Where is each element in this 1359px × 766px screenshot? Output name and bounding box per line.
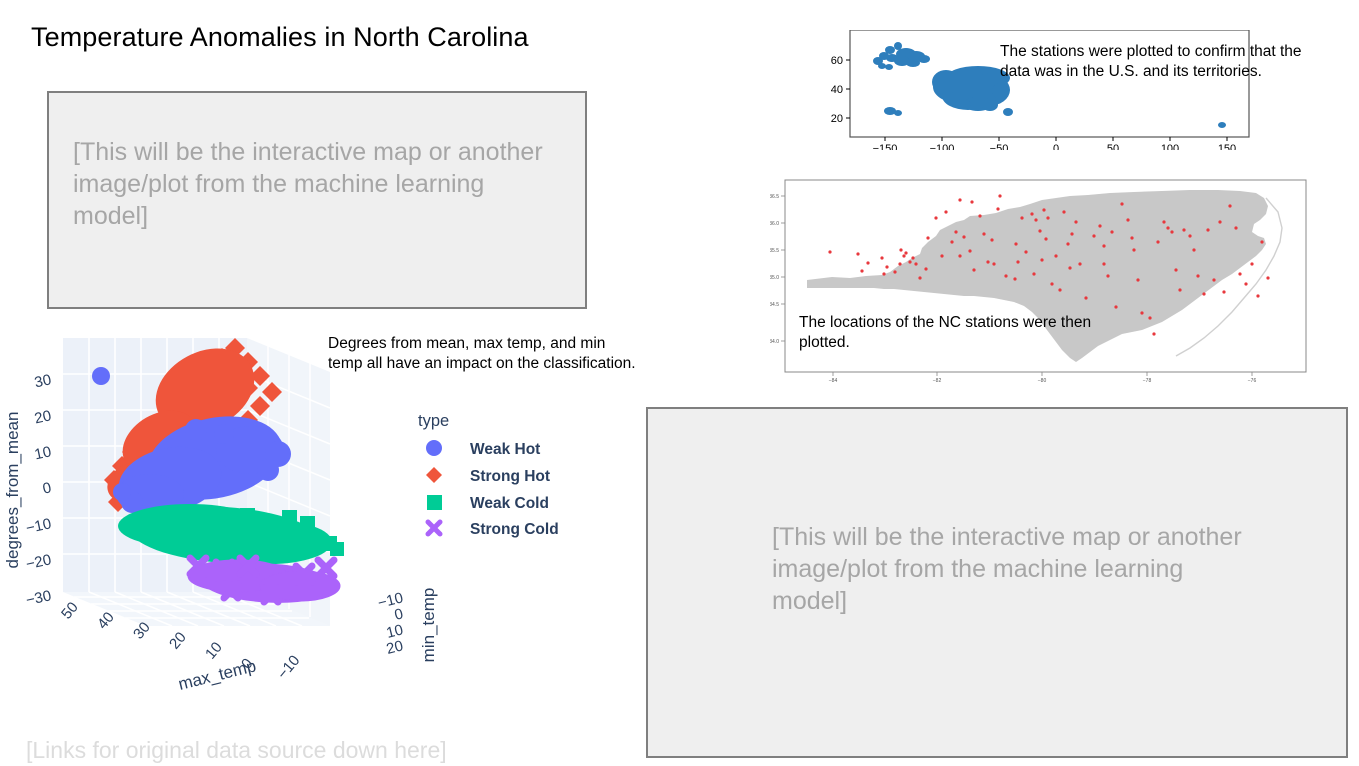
links-note: [Links for original data source down her… — [26, 737, 447, 764]
placeholder-box-top-left[interactable]: [This will be the interactive map or ano… — [47, 91, 587, 309]
us-xaxis: −150 −100 −50 0 50 100 150 — [873, 137, 1237, 150]
nc-xaxis: −84 −82 −80 −78 −76 — [829, 372, 1257, 384]
legend-label-strong-hot: Strong Hot — [470, 468, 550, 485]
scatter3d-svg: 30 20 10 0 −10 −20 −30 degrees_from_mean… — [0, 330, 640, 740]
legend-marker-square-icon — [427, 495, 442, 510]
legend-label-strong-cold: Strong Cold — [470, 521, 559, 538]
nc-xtick-neg82: −82 — [933, 378, 942, 384]
us-xtick-0: 0 — [1053, 143, 1059, 150]
yaxis-title: min_temp — [419, 588, 438, 663]
us-xtick-neg100: −100 — [930, 143, 955, 150]
chart-legend[interactable]: type Weak Hot Strong Hot Weak Cold Stron… — [418, 412, 559, 538]
us-ytick-40: 40 — [831, 84, 843, 96]
xtick-10: 10 — [202, 639, 226, 663]
legend-item-strong-hot[interactable]: Strong Hot — [426, 467, 550, 485]
us-xtick-150: 150 — [1218, 143, 1236, 150]
placeholder-box-bottom-right[interactable]: [This will be the interactive map or ano… — [646, 407, 1348, 758]
ztick-30: 30 — [33, 371, 53, 391]
caption-nc-stations: The locations of the NC stations were th… — [799, 313, 1099, 353]
ztick-0: 0 — [41, 479, 53, 497]
axis-min-temp: −10 0 10 20 min_temp — [376, 588, 438, 663]
caption-us-stations: The stations were plotted to confirm tha… — [1000, 42, 1335, 82]
nc-ytick-36-0: 36.0 — [770, 221, 779, 227]
us-yaxis: 60 40 20 — [831, 55, 850, 125]
nc-xtick-neg78: −78 — [1143, 378, 1152, 384]
axis-degrees-from-mean: 30 20 10 0 −10 −20 −30 degrees_from_mean — [3, 371, 53, 609]
us-ytick-60: 60 — [831, 55, 843, 67]
legend-title: type — [418, 412, 449, 430]
zaxis-title: degrees_from_mean — [3, 412, 22, 569]
nc-ytick-35-5: 35.5 — [770, 248, 779, 254]
nc-ytick-34-5: 34.5 — [770, 302, 779, 308]
legend-label-weak-hot: Weak Hot — [470, 441, 540, 458]
page-title: Temperature Anomalies in North Carolina — [31, 22, 529, 53]
ztick-10: 10 — [33, 443, 53, 463]
scatter3d-chart[interactable]: 30 20 10 0 −10 −20 −30 degrees_from_mean… — [0, 330, 640, 740]
legend-item-strong-cold[interactable]: Strong Cold — [428, 521, 559, 538]
us-xtick-100: 100 — [1161, 143, 1179, 150]
legend-marker-x-icon — [428, 522, 440, 534]
ztick-20: 20 — [33, 407, 53, 427]
xtick-neg10: −10 — [274, 652, 303, 682]
xtick-20: 20 — [166, 629, 190, 653]
nc-xtick-neg76: −76 — [1248, 378, 1257, 384]
placeholder-text-top-left: [This will be the interactive map or ano… — [73, 136, 543, 232]
us-xtick-neg150: −150 — [873, 143, 898, 150]
placeholder-text-bottom-right: [This will be the interactive map or ano… — [772, 521, 1242, 617]
legend-marker-circle-icon — [426, 440, 442, 456]
ztick-neg20: −20 — [24, 551, 52, 573]
nc-ytick-36-5: 36.5 — [770, 194, 779, 200]
legend-item-weak-cold[interactable]: Weak Cold — [427, 495, 549, 512]
xaxis-title: max_temp — [176, 656, 258, 694]
nc-xtick-neg80: −80 — [1038, 378, 1047, 384]
ztick-neg10: −10 — [24, 515, 52, 537]
us-xtick-neg50: −50 — [990, 143, 1009, 150]
ztick-neg30: −30 — [24, 587, 52, 609]
us-xtick-50: 50 — [1107, 143, 1119, 150]
ytick-20: 20 — [385, 637, 405, 658]
nc-ytick-34-0: 34.0 — [770, 339, 779, 345]
nc-ytick-35-0: 35.0 — [770, 275, 779, 281]
legend-label-weak-cold: Weak Cold — [470, 495, 549, 512]
xtick-50: 50 — [58, 599, 82, 623]
legend-item-weak-hot[interactable]: Weak Hot — [426, 440, 540, 458]
caption-scatter3d: Degrees from mean, max temp, and min tem… — [328, 334, 638, 374]
nc-xtick-neg84: −84 — [829, 378, 838, 384]
us-ytick-20: 20 — [831, 113, 843, 125]
legend-marker-diamond-icon — [426, 467, 442, 483]
nc-yaxis: 36.5 36.0 35.5 35.0 34.5 34.0 — [770, 194, 785, 345]
